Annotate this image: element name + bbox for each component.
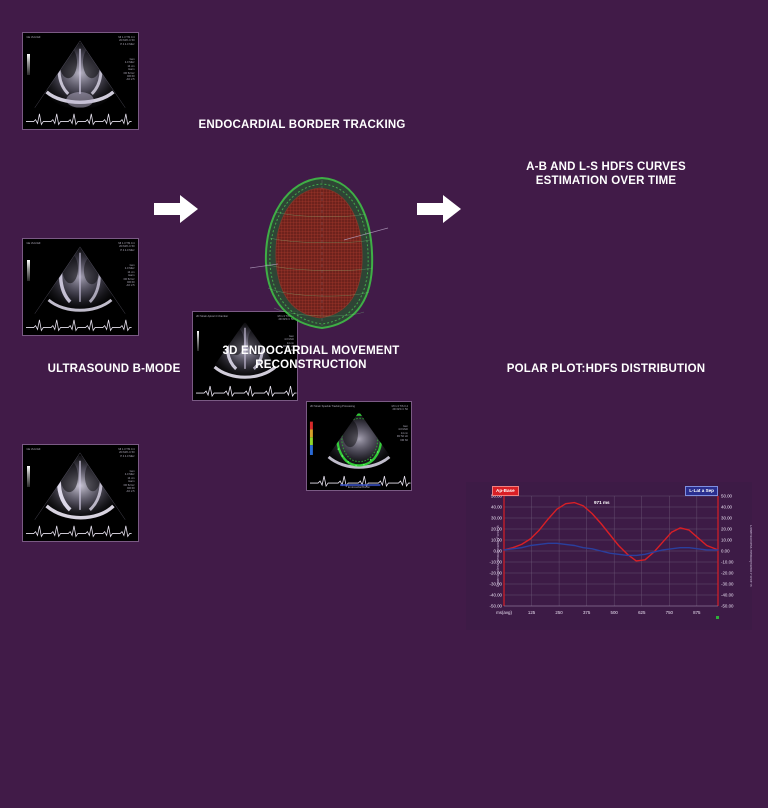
svg-text:30.00: 30.00 bbox=[721, 516, 733, 521]
svg-text:125: 125 bbox=[528, 610, 536, 615]
echo-header-right-3: MI 1.3 TIS 0.4 2D 62% C 50 P 4 4.0 MHz bbox=[118, 448, 134, 458]
svg-text:-50.00: -50.00 bbox=[490, 604, 503, 609]
svg-text:-50.00: -50.00 bbox=[721, 604, 734, 609]
reconstruction-3d-mesh bbox=[248, 168, 394, 334]
tracking-header-right-2: MI 1.3 TIS 0.4 2D 62% C 50 bbox=[392, 405, 408, 412]
legend-l-lat-sep: L-Lat a Sep bbox=[685, 486, 718, 496]
gain-scalebar-3 bbox=[27, 466, 30, 487]
svg-text:20.00: 20.00 bbox=[721, 527, 733, 532]
svg-text:ms(avg): ms(avg) bbox=[496, 610, 512, 615]
legend-ap-base: Ap-Base bbox=[492, 486, 519, 496]
border-tracking-frame-tracked: 2D Strain Speckle Tracking Processing MI… bbox=[306, 401, 412, 491]
ecg-trace-2 bbox=[26, 317, 132, 332]
echo-header-left-1: GE Vivid E9 bbox=[26, 36, 40, 39]
tracking-side-params-2: Gen 4.0 MHz 14 cm FR 52 Hz DR 60 bbox=[397, 425, 408, 442]
ultrasound-frame-3: GE Vivid E9 MI 1.3 TIS 0.4 2D 62% C 50 P… bbox=[22, 444, 139, 542]
ultrasound-frame-2: GE Vivid E9 MI 1.3 TIS 0.4 2D 62% C 50 P… bbox=[22, 238, 139, 336]
hdf-curves-chart: 50.0050.0040.0040.0030.0030.0020.0020.00… bbox=[466, 482, 752, 630]
caption-3d-reconstruction: 3D ENDOCARDIAL MOVEMENT RECONSTRUCTION bbox=[196, 344, 426, 372]
chart-y2label: Dimensionless Hemodynamic Force % bbox=[749, 525, 752, 587]
svg-text:40.00: 40.00 bbox=[721, 505, 733, 510]
svg-text:625: 625 bbox=[638, 610, 646, 615]
caption-endocardial-border-tracking: ENDOCARDIAL BORDER TRACKING bbox=[180, 118, 424, 132]
svg-text:250: 250 bbox=[555, 610, 563, 615]
svg-text:30.00: 30.00 bbox=[491, 516, 503, 521]
echo-side-params-3: Gen 4.0 MHz 14 cm Harm FR 52 Hz DR 60 AO… bbox=[124, 470, 135, 494]
chart-ylabel: Dimensionless Hemodynamic Force % bbox=[496, 525, 500, 587]
arrow-usb-to-reconstruction bbox=[152, 192, 200, 226]
chart-annotation-duration: 971 ms bbox=[594, 500, 610, 505]
echo-header-left-3: GE Vivid E9 bbox=[26, 448, 40, 451]
svg-text:875: 875 bbox=[693, 610, 701, 615]
svg-text:375: 375 bbox=[583, 610, 591, 615]
echo-header-left-2: GE Vivid E9 bbox=[26, 242, 40, 245]
echo-header-right-2: MI 1.3 TIS 0.4 2D 62% C 50 P 4 4.0 MHz bbox=[118, 242, 134, 252]
svg-text:0.00: 0.00 bbox=[721, 549, 730, 554]
svg-text:-30.00: -30.00 bbox=[721, 582, 734, 587]
tracking-footer-label: Endocardial Border bbox=[348, 486, 370, 489]
svg-text:500: 500 bbox=[611, 610, 619, 615]
svg-text:10.00: 10.00 bbox=[721, 538, 733, 543]
caption-hdf-curves: A-B AND L-S HDFs CURVES ESTIMATION OVER … bbox=[490, 160, 722, 188]
tracking-header-left-1: 2D Strain Apical 4 Chamber bbox=[196, 315, 228, 318]
echo-header-right-1: MI 1.3 TIS 0.4 2D 62% C 50 P 4 4.0 MHz bbox=[118, 36, 134, 46]
svg-text:-10.00: -10.00 bbox=[721, 560, 734, 565]
svg-text:-40.00: -40.00 bbox=[721, 593, 734, 598]
echo-side-params-1: Gen 4.0 MHz 14 cm Harm FR 52 Hz DR 60 AO… bbox=[124, 58, 135, 82]
svg-text:750: 750 bbox=[666, 610, 674, 615]
svg-text:-20.00: -20.00 bbox=[721, 571, 734, 576]
gain-scalebar-1 bbox=[27, 54, 30, 75]
ecg-trace-4 bbox=[196, 383, 297, 397]
strain-colorbar bbox=[310, 422, 313, 455]
arrow-reconstruction-to-results bbox=[415, 192, 463, 226]
echo-side-params-2: Gen 4.0 MHz 14 cm Harm FR 52 Hz DR 60 AO… bbox=[124, 264, 135, 288]
svg-text:50.00: 50.00 bbox=[721, 494, 733, 499]
gain-scalebar-2 bbox=[27, 260, 30, 281]
ultrasound-frame-1: GE Vivid E9 MI 1.3 TIS 0.4 2D 62% C 50 P… bbox=[22, 32, 139, 130]
ecg-trace-3 bbox=[26, 523, 132, 538]
tracking-header-left-2: 2D Strain Speckle Tracking Processing bbox=[310, 405, 355, 408]
workflow-figure: GE Vivid E9 MI 1.3 TIS 0.4 2D 62% C 50 P… bbox=[0, 0, 768, 404]
caption-polar-plot: POLAR PLOT:HDFs DISTRIBUTION bbox=[488, 362, 724, 376]
ecg-trace-1 bbox=[26, 111, 132, 126]
svg-text:40.00: 40.00 bbox=[491, 505, 503, 510]
left-ventricle-3d-mesh bbox=[248, 168, 394, 334]
svg-text:-40.00: -40.00 bbox=[490, 593, 503, 598]
